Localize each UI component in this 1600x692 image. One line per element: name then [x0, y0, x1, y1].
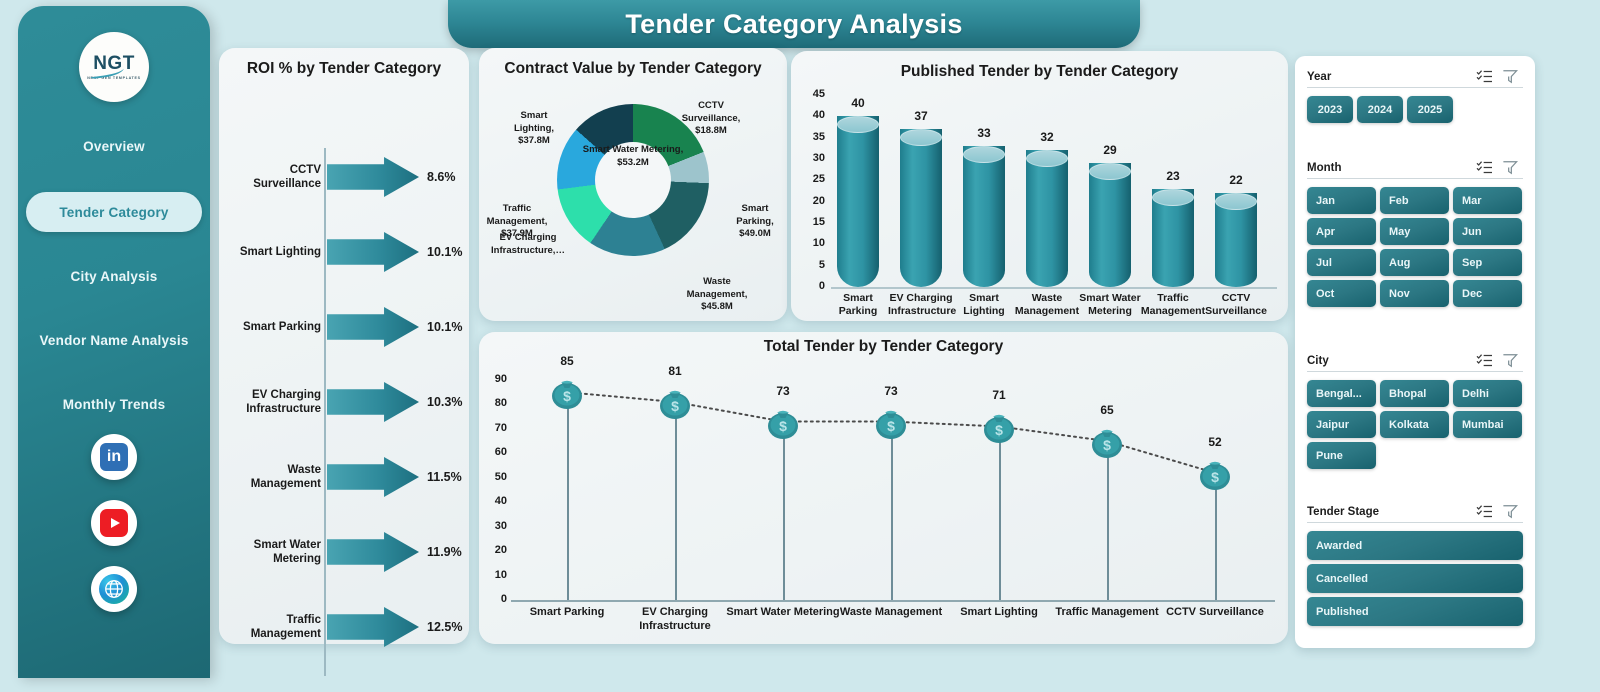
filter-panel: Year 202320242025 Month [1295, 56, 1535, 648]
roi-category-label: Smart Water Metering [219, 538, 327, 567]
money-bag-icon: $ [658, 384, 692, 420]
filter-header: Year [1307, 66, 1523, 88]
y-axis-tick: 0 [801, 280, 825, 292]
svg-text:$: $ [1211, 469, 1219, 485]
sidebar-item-label: Vendor Name Analysis [39, 333, 188, 348]
y-axis-tick: 35 [801, 131, 825, 143]
y-axis-tick: 20 [483, 544, 507, 556]
svg-text:$: $ [779, 418, 787, 434]
point-value-label: 65 [1100, 403, 1113, 417]
y-axis-tick: 70 [483, 422, 507, 434]
globe-glyph [99, 574, 129, 604]
roi-row: CCTV Surveillance8.6% [219, 144, 469, 210]
roi-row: Smart Lighting10.1% [219, 219, 469, 285]
money-bag-icon: $ [766, 404, 800, 440]
bar-cylinder: 40 [837, 116, 879, 287]
filter-option-button[interactable]: Jul [1307, 249, 1376, 276]
filter-options-year: 202320242025 [1307, 96, 1523, 123]
sidebar-item-label: Monthly Trends [63, 397, 166, 412]
roi-row: Waste Management11.5% [219, 444, 469, 510]
roi-arrow [327, 307, 419, 347]
money-bag-icon: $ [982, 408, 1016, 444]
sidebar-item-label: Overview [83, 139, 145, 154]
point-stem [999, 426, 1001, 600]
sidebar: NGT NEXT GEN TEMPLATES Overview Tender C… [18, 6, 210, 678]
point-stem [1215, 473, 1217, 600]
donut-label-smart-parking: Smart Parking, $49.0M [724, 203, 786, 241]
filter-option-button[interactable]: Feb [1380, 187, 1449, 214]
filter-option-button[interactable]: Bengal... [1307, 380, 1376, 407]
point-stem [891, 422, 893, 600]
roi-arrow [327, 457, 419, 497]
filter-section-year: Year 202320242025 [1307, 66, 1523, 123]
bar-value-label: 32 [1026, 130, 1068, 144]
filter-option-button[interactable]: Mumbai [1453, 411, 1522, 438]
sidebar-item-city-analysis[interactable]: City Analysis [26, 256, 202, 296]
filter-header: City [1307, 350, 1523, 372]
filter-option-button[interactable]: Aug [1380, 249, 1449, 276]
roi-arrow [327, 382, 419, 422]
sidebar-item-label: City Analysis [71, 269, 158, 284]
filter-option-button[interactable]: 2025 [1407, 96, 1453, 123]
filter-section-city: City Bengal...BhopalDelhiJaipurKolkataMu… [1307, 350, 1523, 469]
filter-option-button[interactable]: Awarded [1307, 531, 1523, 560]
filter-option-button[interactable]: Bhopal [1380, 380, 1449, 407]
y-axis-tick: 0 [483, 593, 507, 605]
roi-value-label: 8.6% [427, 170, 456, 184]
filter-option-button[interactable]: Mar [1453, 187, 1522, 214]
roi-value-label: 11.9% [427, 545, 462, 559]
multi-select-icon[interactable] [1471, 159, 1497, 177]
roi-value-label: 10.1% [427, 245, 462, 259]
page-title: Tender Category Analysis [625, 9, 962, 40]
y-axis-tick: 45 [801, 88, 825, 100]
y-axis-tick: 90 [483, 373, 507, 385]
roi-value-label: 10.3% [427, 395, 462, 409]
roi-arrow [327, 607, 419, 647]
multi-select-icon[interactable] [1471, 352, 1497, 370]
sidebar-item-overview[interactable]: Overview [26, 126, 202, 166]
filter-title: Year [1307, 71, 1471, 83]
money-bag-icon: $ [1090, 423, 1124, 459]
roi-chart-card: ROI % by Tender Category CCTV Surveillan… [219, 48, 469, 644]
donut-label-smart-lighting: Smart Lighting, $37.8M [501, 110, 567, 148]
filter-option-button[interactable]: Apr [1307, 218, 1376, 245]
contract-value-chart-card: Contract Value by Tender Category Smart … [479, 48, 787, 321]
multi-select-icon[interactable] [1471, 68, 1497, 86]
bar-category-label: Smart Lighting [951, 292, 1017, 318]
bar-category-label: Smart Water Metering [1077, 292, 1143, 318]
filter-option-button[interactable]: Kolkata [1380, 411, 1449, 438]
roi-category-label: EV Charging Infrastructure [219, 388, 327, 417]
roi-arrow [327, 532, 419, 572]
linkedin-glyph: in [100, 443, 128, 471]
published-tender-baseline [831, 287, 1277, 289]
filter-options-tender-stage: AwardedCancelledPublished [1307, 531, 1523, 626]
bar-value-label: 22 [1215, 173, 1257, 187]
filter-option-button[interactable]: Jun [1453, 218, 1522, 245]
y-axis-tick: 40 [483, 495, 507, 507]
filter-options-city: Bengal...BhopalDelhiJaipurKolkataMumbaiP… [1307, 380, 1523, 469]
filter-options-month: JanFebMarAprMayJunJulAugSepOctNovDec [1307, 187, 1523, 307]
bar-cylinder: 29 [1089, 163, 1131, 287]
money-bag-icon: $ [874, 404, 908, 440]
roi-chart-title: ROI % by Tender Category [219, 60, 469, 78]
svg-text:$: $ [887, 418, 895, 434]
bar-category-label: Waste Management [1014, 292, 1080, 318]
clear-filter-funnel-icon[interactable] [1497, 503, 1523, 521]
bar-cylinder: 33 [963, 146, 1005, 287]
roi-value-label: 10.1% [427, 320, 462, 334]
filter-section-month: Month JanFebMarAprMayJunJulAugSepOctNovD… [1307, 157, 1523, 307]
roi-value-label: 12.5% [427, 620, 462, 634]
youtube-glyph [100, 509, 128, 537]
money-bag-icon: $ [550, 374, 584, 410]
bar-category-label: CCTV Surveillance [1203, 292, 1269, 318]
filter-option-button[interactable]: Oct [1307, 280, 1376, 307]
point-value-label: 73 [884, 384, 897, 398]
filter-option-button[interactable]: Delhi [1453, 380, 1522, 407]
point-value-label: 71 [992, 388, 1005, 402]
bar-value-label: 29 [1089, 143, 1131, 157]
y-axis-tick: 10 [801, 237, 825, 249]
svg-text:$: $ [1103, 437, 1111, 453]
point-value-label: 73 [776, 384, 789, 398]
total-tender-baseline [511, 600, 1275, 602]
bar-cylinder: 22 [1215, 193, 1257, 287]
roi-arrow [327, 157, 419, 197]
svg-text:$: $ [995, 422, 1003, 438]
filter-option-button[interactable]: Jan [1307, 187, 1376, 214]
donut-center-label: Smart Water Metering, $53.2M [581, 144, 685, 170]
linkedin-icon[interactable]: in [91, 434, 137, 480]
donut-label-cctv: CCTV Surveillance, $18.8M [672, 100, 750, 138]
point-stem [783, 422, 785, 600]
contract-value-chart-title: Contract Value by Tender Category [479, 60, 787, 78]
roi-row: Traffic Management12.5% [219, 594, 469, 660]
bar-cylinder: 23 [1152, 189, 1194, 287]
filter-option-button[interactable]: Dec [1453, 280, 1522, 307]
filter-option-button[interactable]: Cancelled [1307, 564, 1523, 593]
point-stem [1107, 441, 1109, 600]
roi-category-label: Smart Parking [219, 320, 327, 334]
bar-value-label: 37 [900, 109, 942, 123]
bar-category-label: Smart Parking [825, 292, 891, 318]
point-value-label: 52 [1208, 435, 1221, 449]
svg-text:$: $ [671, 398, 679, 414]
point-value-label: 81 [668, 364, 681, 378]
y-axis-tick: 25 [801, 173, 825, 185]
filter-option-button[interactable]: 2024 [1357, 96, 1403, 123]
filter-option-button[interactable]: Jaipur [1307, 411, 1376, 438]
bar-category-label: EV Charging Infrastructure [888, 292, 954, 318]
y-axis-tick: 20 [801, 195, 825, 207]
filter-option-button[interactable]: Published [1307, 597, 1523, 626]
sidebar-item-label: Tender Category [59, 205, 168, 220]
filter-option-button[interactable]: Sep [1453, 249, 1522, 276]
filter-section-tender-stage: Tender Stage AwardedCancelledPublished [1307, 501, 1523, 626]
bar-category-label: Traffic Management [1140, 292, 1206, 318]
y-axis-tick: 5 [801, 259, 825, 271]
youtube-icon[interactable] [91, 500, 137, 546]
total-tender-line-path [479, 332, 1288, 644]
published-tender-chart-card: Published Tender by Tender Category 0510… [791, 51, 1288, 321]
y-axis-tick: 30 [801, 152, 825, 164]
bar-value-label: 23 [1152, 169, 1194, 183]
bar-value-label: 33 [963, 126, 1005, 140]
app-logo: NGT NEXT GEN TEMPLATES [79, 32, 149, 102]
clear-filter-funnel-icon[interactable] [1497, 159, 1523, 177]
roi-row: Smart Water Metering11.9% [219, 519, 469, 585]
roi-category-label: Smart Lighting [219, 245, 327, 259]
y-axis-tick: 60 [483, 446, 507, 458]
sidebar-item-vendor-name-analysis[interactable]: Vendor Name Analysis [26, 320, 202, 360]
filter-title: Month [1307, 162, 1471, 174]
website-globe-icon[interactable] [91, 566, 137, 612]
clear-filter-funnel-icon[interactable] [1497, 68, 1523, 86]
filter-option-button[interactable]: May [1380, 218, 1449, 245]
total-tender-chart-card: Total Tender by Tender Category 01020304… [479, 332, 1288, 644]
filter-option-button[interactable]: Pune [1307, 442, 1376, 469]
y-axis-tick: 10 [483, 569, 507, 581]
roi-category-label: CCTV Surveillance [219, 163, 327, 192]
roi-category-label: Traffic Management [219, 613, 327, 642]
total-tender-chart-title: Total Tender by Tender Category [479, 338, 1288, 356]
filter-title: City [1307, 355, 1471, 367]
sidebar-item-monthly-trends[interactable]: Monthly Trends [26, 384, 202, 424]
filter-title: Tender Stage [1307, 506, 1471, 518]
filter-header: Tender Stage [1307, 501, 1523, 523]
roi-category-label: Waste Management [219, 463, 327, 492]
clear-filter-funnel-icon[interactable] [1497, 352, 1523, 370]
bar-value-label: 40 [837, 96, 879, 110]
point-stem [567, 392, 569, 600]
roi-value-label: 11.5% [427, 470, 462, 484]
filter-option-button[interactable]: 2023 [1307, 96, 1353, 123]
bar-cylinder: 32 [1026, 150, 1068, 287]
money-bag-icon: $ [1198, 455, 1232, 491]
svg-text:$: $ [563, 388, 571, 404]
bar-cylinder: 37 [900, 129, 942, 287]
filter-header: Month [1307, 157, 1523, 179]
roi-row: EV Charging Infrastructure10.3% [219, 369, 469, 435]
donut-label-traffic-management: Traffic Management, $37.9M [481, 203, 553, 241]
filter-option-button[interactable]: Nov [1380, 280, 1449, 307]
line-category-label: CCTV Surveillance [1150, 606, 1280, 620]
y-axis-tick: 30 [483, 520, 507, 532]
y-axis-tick: 40 [801, 109, 825, 121]
donut-label-waste-management: Waste Management, $45.8M [681, 276, 753, 314]
y-axis-tick: 50 [483, 471, 507, 483]
point-value-label: 85 [560, 354, 573, 368]
roi-row: Smart Parking10.1% [219, 294, 469, 360]
multi-select-icon[interactable] [1471, 503, 1497, 521]
roi-arrow [327, 232, 419, 272]
published-tender-chart-title: Published Tender by Tender Category [791, 63, 1288, 81]
y-axis-tick: 80 [483, 397, 507, 409]
point-stem [675, 402, 677, 600]
page-header-banner: Tender Category Analysis [448, 0, 1140, 48]
sidebar-item-tender-category[interactable]: Tender Category [26, 192, 202, 232]
y-axis-tick: 15 [801, 216, 825, 228]
